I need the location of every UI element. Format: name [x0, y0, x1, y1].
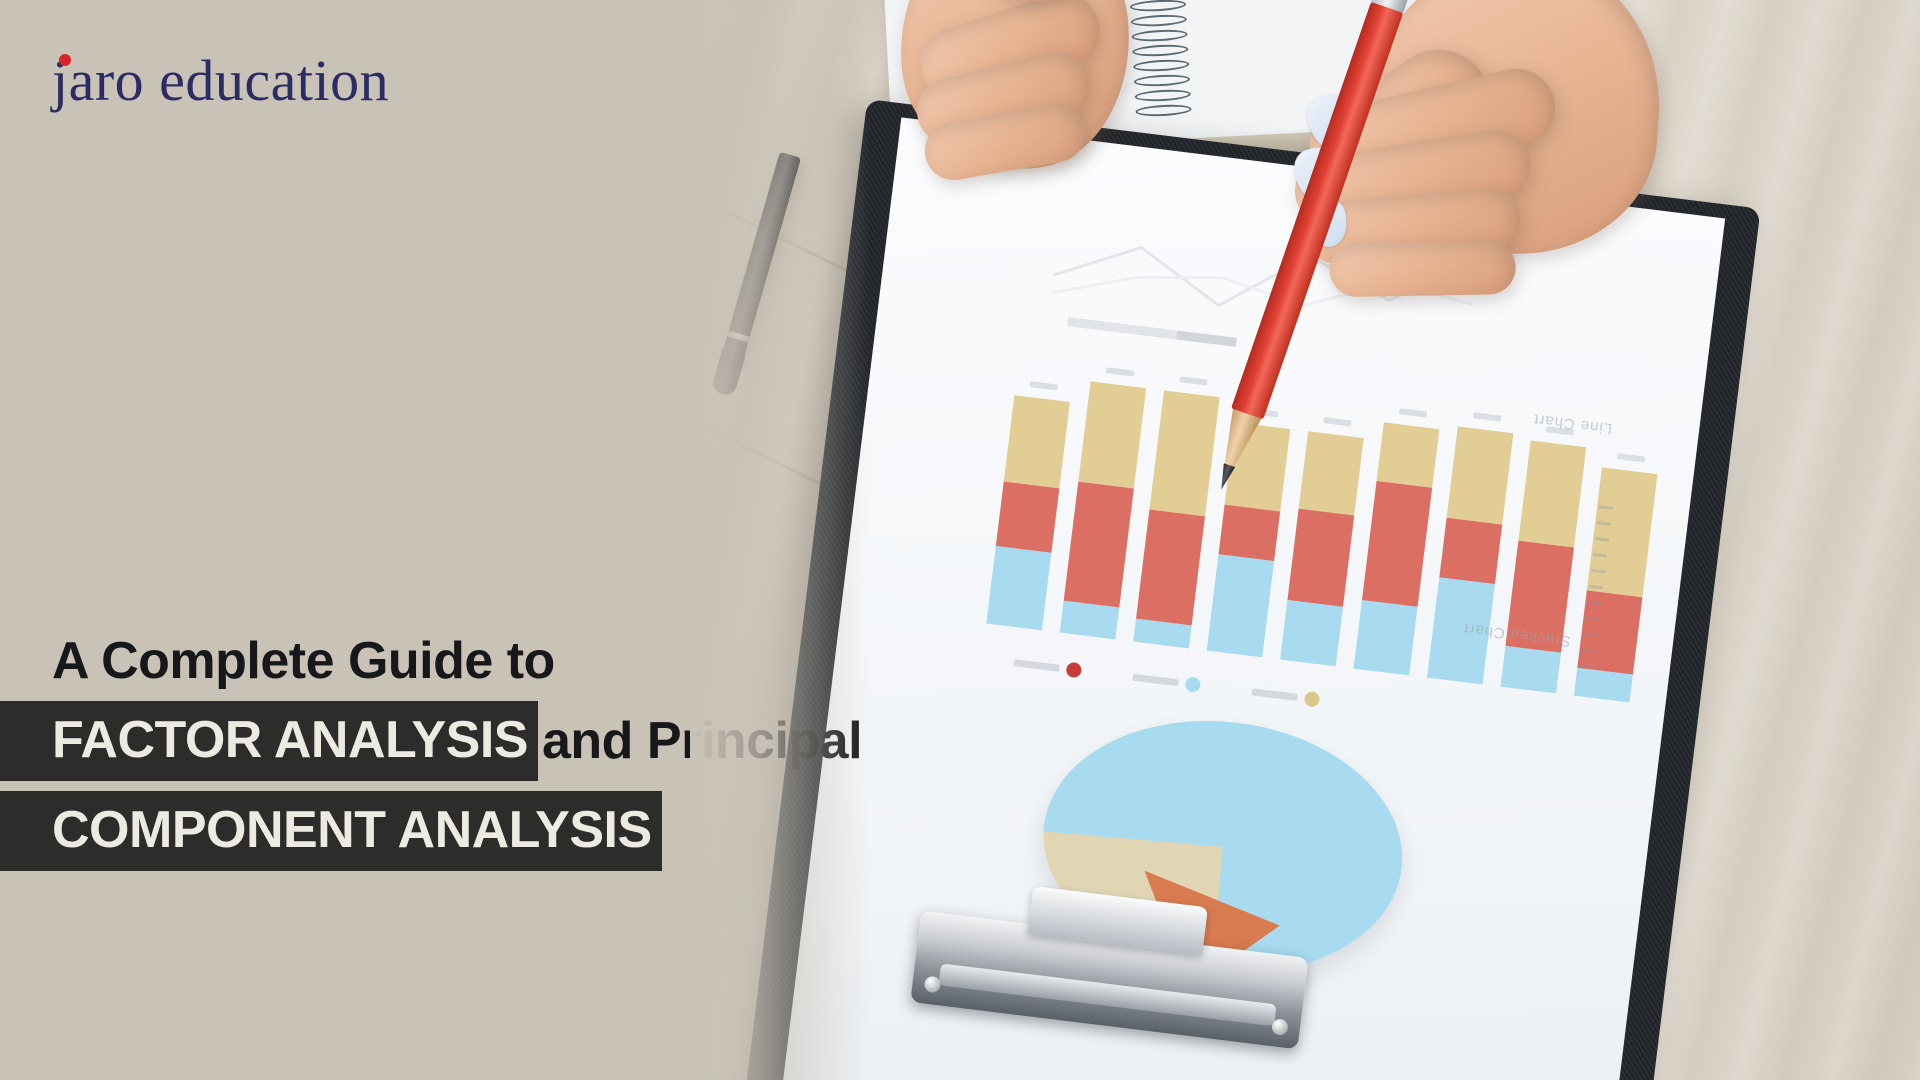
headline-highlight-component-analysis: COMPONENT ANALYSIS — [0, 791, 662, 871]
right-hand — [1236, 0, 1684, 374]
bar-segment — [1218, 504, 1280, 561]
legend-item — [1251, 684, 1320, 707]
legend-swatch-blue — [1185, 676, 1202, 693]
bar-column — [1280, 431, 1364, 666]
bar-segment — [1136, 509, 1205, 625]
right-hand-finger — [1329, 240, 1516, 297]
bar-segment — [1447, 426, 1514, 524]
bar-category-tick — [1179, 376, 1208, 385]
bar-segment — [1280, 600, 1343, 666]
bar-category-tick — [1029, 381, 1058, 390]
photo-left-fade — [690, 0, 870, 1080]
bar-column — [1133, 390, 1219, 648]
bar-column — [1354, 422, 1440, 675]
bar-segment — [986, 546, 1051, 630]
bar-segment — [1518, 440, 1586, 547]
headline-line-3: COMPONENT ANALYSIS — [52, 791, 1152, 871]
clip-bar — [938, 963, 1276, 1026]
brand-logo[interactable]: jaro education — [52, 52, 389, 110]
bar-category-tick — [1473, 412, 1502, 421]
bar-column — [986, 395, 1070, 630]
bar-category-tick — [1617, 453, 1646, 462]
hero-banner: Line Chart Stacked Chart — [0, 0, 1920, 1080]
chart-subtitle-placeholder-2 — [1176, 331, 1237, 347]
bar-column — [1060, 381, 1146, 639]
bar-column — [1500, 440, 1586, 693]
bar-category-tick — [1399, 408, 1428, 417]
pencil-graphite-tip — [1215, 463, 1235, 491]
bar-segment — [1060, 601, 1120, 640]
bar-segment — [1004, 395, 1070, 489]
bar-segment — [1362, 481, 1432, 607]
clip-pin-right — [1271, 1018, 1289, 1036]
bar-segment — [1439, 518, 1502, 584]
brand-logo-dot — [59, 54, 71, 66]
bar-category-tick — [1323, 417, 1352, 426]
bar-segment — [1064, 482, 1134, 608]
bar-segment — [1377, 422, 1440, 488]
bar-segment — [1287, 509, 1354, 607]
headline-block: A Complete Guide to FACTOR ANALYSIS and … — [52, 635, 1152, 871]
hero-photograph: Line Chart Stacked Chart — [690, 0, 1920, 1080]
bar-segment — [1078, 381, 1146, 488]
bar-category-tick — [1106, 367, 1135, 376]
brand-logo-text: jaro education — [52, 52, 389, 110]
headline-line-1: A Complete Guide to — [52, 635, 1152, 687]
headline-line-2: FACTOR ANALYSIS and Principal — [52, 701, 1152, 781]
headline-highlight-factor-analysis: FACTOR ANALYSIS — [0, 701, 538, 781]
bar-segment — [1299, 431, 1364, 515]
bar-segment — [1354, 600, 1418, 675]
bar-segment — [1207, 555, 1274, 658]
bar-segment — [1500, 646, 1561, 694]
legend-swatch-khaki — [1304, 691, 1321, 708]
legend-label-placeholder — [1252, 688, 1299, 701]
left-hand — [844, 0, 1177, 225]
bar-segment — [996, 482, 1059, 553]
bar-column — [1427, 426, 1513, 684]
